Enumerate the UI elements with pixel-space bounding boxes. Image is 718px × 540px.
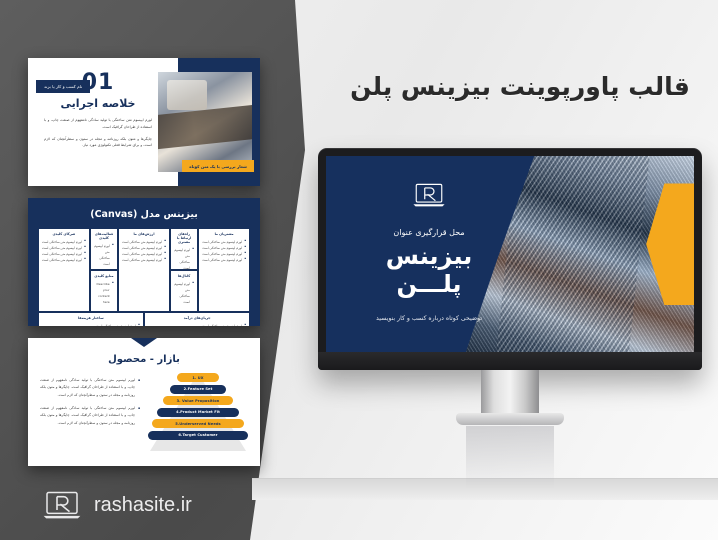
canvas-row-top: شرکای کلیدی لورم ایپسوم متن ساختگی است ل…	[39, 229, 249, 311]
canvas-cell-customer-segments: مشتریان ما لورم ایپسوم متن ساختگی است لو…	[199, 229, 249, 311]
canvas-grid: شرکای کلیدی لورم ایپسوم متن ساختگی است ل…	[39, 229, 249, 315]
monitor-stand-reflection	[466, 426, 554, 488]
laptop-r-monogram-logo	[412, 182, 446, 208]
canvas-cell-revenue-streams: جریان‌های درآمد لورم ایپسوم متن ساختگی ا…	[145, 313, 249, 326]
cell-header: ارزش‌های ما	[122, 232, 166, 236]
slide1-paragraph-2: چاپگرها و متون بلکه روزنامه و مجله در ست…	[40, 136, 156, 150]
canvas-cell-key-activities: فعالیت‌های کلیدی لورم ایپسوم متن ساختگی …	[91, 229, 116, 269]
cell-item: لورم ایپسوم متن ساختگی است	[42, 323, 140, 327]
poster-stage: قالب پاورپوینت بیزینس پلن 01 خلاصه اجرای…	[0, 0, 718, 540]
slide1-text-column: 01 خلاصه اجرایی لورم ایپسوم متن ساختگی ب…	[28, 58, 166, 186]
canvas-cell-cost-structure: ساختار هزینه‌ها لورم ایپسوم متن ساختگی ا…	[39, 313, 143, 326]
cell-item: لورم ایپسوم متن ساختگی است	[94, 243, 113, 267]
monitor-screen[interactable]: rashasite.ir ‌| قالب پاورپوینت بیزینس پل…	[326, 156, 694, 352]
slide1-canvas: 01 خلاصه اجرایی لورم ایپسوم متن ساختگی ب…	[28, 58, 260, 186]
slide3-canvas: بازار - محصول لورم ایپسوم متن ساختگی با …	[28, 338, 260, 466]
page-title: قالب پاورپوینت بیزینس پلن	[340, 72, 700, 101]
funnel-row-value-proposition: 3. Value Proposition	[163, 396, 233, 405]
canvas-cell-key-resources: منابع کلیدی Describe your content here	[91, 271, 116, 311]
slide3-text-column: لورم ایپسوم متن ساختگی با تولید سادگی نا…	[40, 373, 140, 440]
cell-header: منابع کلیدی	[94, 274, 113, 278]
cell-item: لورم ایپسوم متن ساختگی است	[42, 257, 86, 263]
cell-item: Describe your content here	[94, 281, 113, 305]
canvas-row-bottom: ساختار هزینه‌ها لورم ایپسوم متن ساختگی ا…	[39, 313, 249, 326]
footer-branding: rashasite.ir	[42, 490, 192, 520]
slide1-brand-badge: نام کسب و کار یا برند	[36, 80, 90, 93]
cell-item: لورم ایپسوم متن ساختگی است	[122, 257, 166, 263]
cell-header: شرکای کلیدی	[42, 232, 86, 236]
slide3-title: بازار - محصول	[40, 354, 248, 365]
funnel-row-underserved-needs: 5.Underserved Needs	[152, 419, 244, 428]
cell-item: لورم ایپسوم متن ساختگی است	[202, 257, 246, 263]
funnel-row-ux: 1. UX	[177, 373, 219, 382]
slide-thumbnail-executive-summary[interactable]: 01 خلاصه اجرایی لورم ایپسوم متن ساختگی ب…	[28, 58, 260, 186]
cell-item: لورم ایپسوم متن ساختگی است	[174, 247, 193, 269]
slide3-body: لورم ایپسوم متن ساختگی با تولید سادگی نا…	[40, 373, 248, 440]
cover-subtitle: محل قرارگیری عنوان	[326, 228, 532, 237]
cell-header: ساختار هزینه‌ها	[42, 316, 140, 320]
cover-title-line-2: پلـــن	[326, 270, 532, 298]
cell-item: لورم ایپسوم متن ساختگی است	[174, 281, 193, 305]
slide1-slogan-badge: شعار بررسی با یک متن کوتاه	[182, 160, 254, 172]
laptop-r-monogram-logo	[42, 490, 82, 520]
canvas-column-relations-channels: راه‌های ارتباط با مشتری لورم ایپسوم متن …	[171, 229, 196, 311]
cover-tagline: توضیحی کوتاه درباره کسب و کار بنویسید	[326, 315, 532, 322]
monitor-stand-neck	[481, 370, 539, 416]
slide1-paragraph-1: لورم ایپسوم متن ساختگی با تولید سادگی نا…	[40, 117, 156, 131]
funnel-row-product-market-fit: 4.Product Market Fit	[157, 408, 239, 417]
cell-header: راه‌های ارتباط با مشتری	[174, 232, 193, 244]
funnel-row-target-customer: 6.Target Customer	[148, 431, 248, 440]
slide3-paragraph-2: لورم ایپسوم متن ساختگی با تولید سادگی نا…	[40, 405, 140, 427]
slide-thumbnail-business-model-canvas[interactable]: بیزینس مدل (Canvas) شرکای کلیدی لورم ایپ…	[28, 198, 260, 326]
monitor-chin	[318, 352, 702, 370]
monitor-mockup: rashasite.ir ‌| قالب پاورپوینت بیزینس پل…	[318, 148, 702, 370]
cell-item: لورم ایپسوم متن ساختگی است	[148, 323, 246, 327]
business-meeting-photo	[158, 72, 252, 172]
product-market-pyramid: 1. UX 2.Feature Set 3. Value Proposition…	[148, 373, 248, 440]
canvas-cell-channels: کانال‌ها لورم ایپسوم متن ساختگی است	[171, 271, 196, 311]
cover-title-line-1: بیزینس	[326, 242, 532, 270]
slide1-title: خلاصه اجرایی	[40, 97, 156, 110]
slide-thumbnail-market-product[interactable]: بازار - محصول لورم ایپسوم متن ساختگی با …	[28, 338, 260, 466]
canvas-cell-value-propositions: ارزش‌های ما لورم ایپسوم متن ساختگی است ل…	[119, 229, 169, 311]
cell-header: کانال‌ها	[174, 274, 193, 278]
monitor-stand-base	[456, 413, 564, 425]
slide3-paragraph-1: لورم ایپسوم متن ساختگی با تولید سادگی نا…	[40, 377, 140, 399]
cell-header: فعالیت‌های کلیدی	[94, 232, 113, 240]
canvas-cell-customer-relationships: راه‌های ارتباط با مشتری لورم ایپسوم متن …	[171, 229, 196, 269]
funnel-row-feature-set: 2.Feature Set	[170, 385, 226, 394]
canvas-column-activities-resources: فعالیت‌های کلیدی لورم ایپسوم متن ساختگی …	[91, 229, 116, 311]
presentation-cover-slide: rashasite.ir ‌| قالب پاورپوینت بیزینس پل…	[326, 156, 694, 352]
canvas-cell-key-partners: شرکای کلیدی لورم ایپسوم متن ساختگی است ل…	[39, 229, 89, 311]
slide2-title: بیزینس مدل (Canvas)	[28, 198, 260, 220]
cell-header: مشتریان ما	[202, 232, 246, 236]
cell-header: جریان‌های درآمد	[148, 316, 246, 320]
footer-site-url: rashasite.ir	[94, 494, 192, 517]
cover-text-column: محل قرارگیری عنوان بیزینس پلـــن توضیحی …	[326, 156, 532, 352]
slide3-notch-decoration	[131, 338, 157, 347]
